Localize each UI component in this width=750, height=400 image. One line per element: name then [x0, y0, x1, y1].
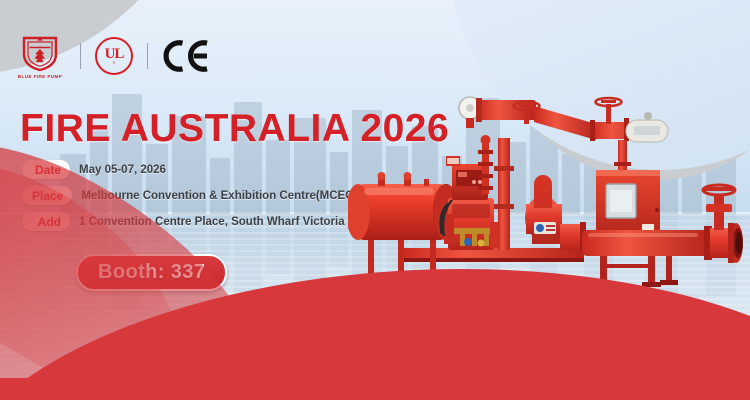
divider [147, 43, 148, 69]
certification-strip: BLUE FIRE PUMP UL ® [14, 28, 210, 84]
ce-certification-mark-icon [162, 39, 210, 73]
company-logo: BLUE FIRE PUMP [14, 34, 66, 79]
bottom-red-bar [0, 378, 750, 400]
ul-certification-mark-icon: UL ® [95, 37, 133, 75]
ul-label: UL [105, 48, 124, 61]
company-logo-wordmark: BLUE FIRE PUMP [18, 74, 62, 79]
ul-registered-symbol: ® [113, 61, 116, 65]
fire-pump-shield-logo-icon [20, 34, 60, 72]
divider [80, 43, 81, 69]
exhibition-banner: BLUE FIRE PUMP UL ® FIRE AUSTRALIA 2026 … [0, 0, 750, 400]
info-value-date: May 05-07, 2026 [79, 164, 166, 176]
